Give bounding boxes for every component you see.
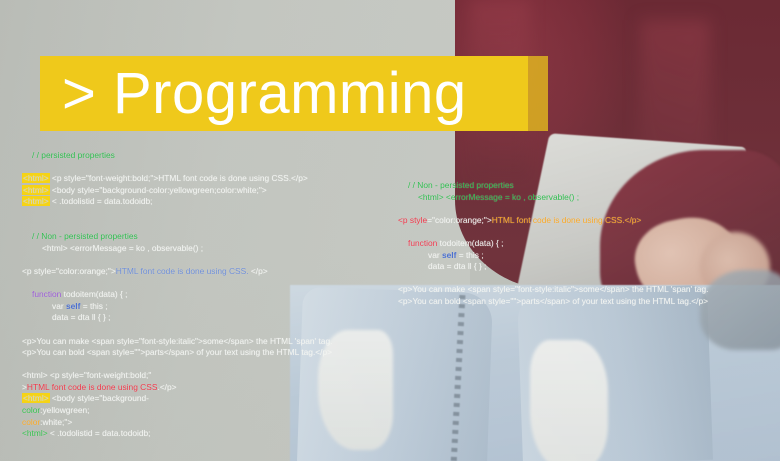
code-line: <html> <errorMessage = ko , observable()… xyxy=(22,243,332,255)
code-token: todoitem(data) { ; xyxy=(61,289,127,299)
code-line: data = dta ll { } ; xyxy=(22,312,332,324)
code-token: <html> xyxy=(22,196,50,206)
code-blank-line xyxy=(22,278,332,290)
code-token: ="color:orange;"> xyxy=(427,215,492,225)
code-token: self xyxy=(442,250,456,260)
code-blank-line xyxy=(22,208,332,220)
code-token: <p>You can bold <span style="">parts</sp… xyxy=(398,296,708,306)
code-line: <p>You can bold <span style="">parts</sp… xyxy=(398,296,708,308)
code-line: var self = this ; xyxy=(398,250,708,262)
code-token: <html> <p style="font-weight:bold;" xyxy=(22,370,151,380)
code-token: <html> <errorMessage = ko , observable()… xyxy=(42,243,203,253)
code-blank-line xyxy=(398,273,708,285)
code-line: / / Non - persisted properties xyxy=(22,231,332,243)
code-blank-line xyxy=(22,162,332,174)
programming-slide: > Programming / / persisted properties <… xyxy=(0,0,780,461)
code-token: data = dta ll { } ; xyxy=(52,312,110,322)
code-token: HTML font code is done using CSS. xyxy=(116,266,249,276)
code-token: :yellowgreen; xyxy=(40,405,89,415)
code-block-right: / / Non - persisted properties<html> <er… xyxy=(398,180,708,308)
code-line: <p>You can make <span style="font-style:… xyxy=(398,284,708,296)
code-line: function todoitem(data) { ; xyxy=(22,289,332,301)
code-token: HTML font code is done using CSS xyxy=(27,382,158,392)
code-token: <p>You can bold <span style="">parts</sp… xyxy=(22,347,332,357)
code-block-left: / / persisted properties <html> <p style… xyxy=(22,150,332,440)
code-token: / / Non - persisted properties xyxy=(408,180,514,190)
code-token: = this ; xyxy=(456,250,483,260)
code-token: <p>You can make <span style="font-style:… xyxy=(22,336,332,346)
code-token: </p> xyxy=(249,266,268,276)
code-line: function todoitem(data) { ; xyxy=(398,238,708,250)
code-blank-line xyxy=(22,324,332,336)
code-line: color:white;"> xyxy=(22,417,332,429)
code-token: / / persisted properties xyxy=(32,150,115,160)
code-line: <html> < .todolistid = data.todoidb; xyxy=(22,196,332,208)
code-token: <html> xyxy=(22,185,50,195)
code-token: function xyxy=(408,238,437,248)
code-token: function xyxy=(32,289,61,299)
code-line: <p>You can bold <span style="">parts</sp… xyxy=(22,347,332,359)
code-token: color xyxy=(22,405,40,415)
code-line: <html> <body style="background- xyxy=(22,393,332,405)
code-line: <html> < .todolistid = data.todoidb; xyxy=(22,428,332,440)
code-line: <html> <p style="font-weight:bold;" xyxy=(22,370,332,382)
code-token: data = dta ll { } ; xyxy=(428,261,486,271)
code-token: / / Non - persisted properties xyxy=(32,231,138,241)
code-line: <html> <errorMessage = ko , observable()… xyxy=(398,192,708,204)
code-token: = this ; xyxy=(80,301,107,311)
code-line: data = dta ll { } ; xyxy=(398,261,708,273)
code-token: <p>You can make <span style="font-style:… xyxy=(398,284,708,294)
code-blank-line xyxy=(398,203,708,215)
code-line: var self = this ; xyxy=(22,301,332,313)
code-blank-line xyxy=(22,220,332,232)
code-token: <body style="background-color:yellowgree… xyxy=(50,185,267,195)
code-token: <html> xyxy=(22,393,50,403)
code-line: / / persisted properties xyxy=(22,150,332,162)
code-line: <html> <p style="font-weight:bold;">HTML… xyxy=(22,173,332,185)
code-token: .</p> xyxy=(157,382,176,392)
code-blank-line xyxy=(398,226,708,238)
code-token: var xyxy=(52,301,66,311)
code-line: <p style="color:orange;">HTML font code … xyxy=(398,215,708,227)
code-line: color:yellowgreen; xyxy=(22,405,332,417)
code-blank-line xyxy=(22,359,332,371)
code-token: <p style xyxy=(398,215,427,225)
code-line: <p style="color:orange;">HTML font code … xyxy=(22,266,332,278)
code-line: >HTML font code is done using CSS.</p> xyxy=(22,382,332,394)
code-token: var xyxy=(428,250,442,260)
code-token: <p style="font-weight:bold;">HTML font c… xyxy=(50,173,308,183)
code-token: self xyxy=(66,301,80,311)
code-token: < .todolistid = data.todoidb; xyxy=(50,196,153,206)
code-token: :white;"> xyxy=(40,417,72,427)
code-token: <body style="background- xyxy=(50,393,149,403)
code-token: todoitem(data) { ; xyxy=(437,238,503,248)
code-line: / / Non - persisted properties xyxy=(398,180,708,192)
code-token: <html> xyxy=(22,428,48,438)
code-token: HTML font code is done using CSS.</p> xyxy=(492,215,642,225)
code-line: <p>You can make <span style="font-style:… xyxy=(22,336,332,348)
code-token: <html> <errorMessage = ko , observable()… xyxy=(418,192,579,202)
code-token: <p style="color:orange;"> xyxy=(22,266,116,276)
code-token: <html> xyxy=(22,173,50,183)
code-token: color xyxy=(22,417,40,427)
code-line: <html> <body style="background-color:yel… xyxy=(22,185,332,197)
page-title: > Programming xyxy=(62,57,542,131)
code-token: < .todolistid = data.todoidb; xyxy=(48,428,151,438)
code-blank-line xyxy=(22,254,332,266)
